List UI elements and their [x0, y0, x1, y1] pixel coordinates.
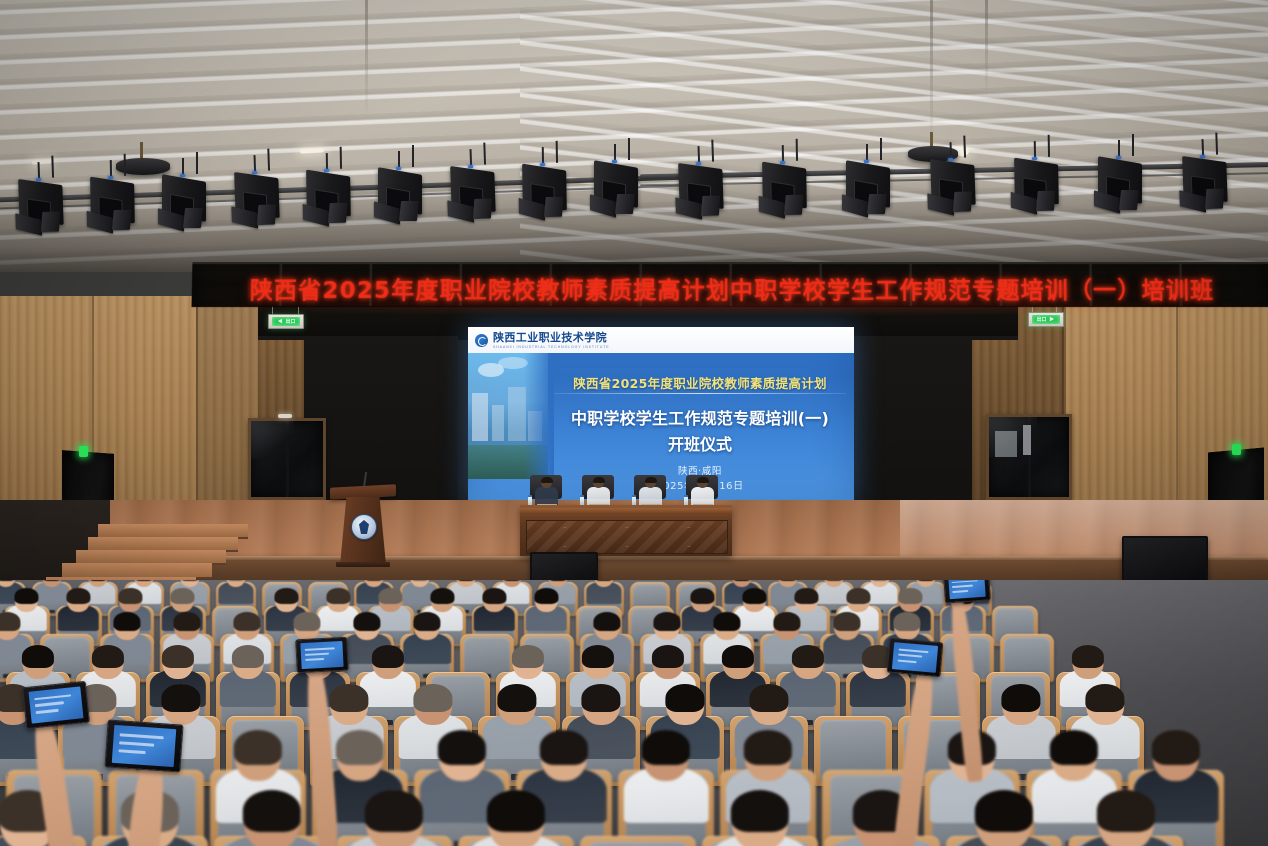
- fixture-rod: [628, 138, 630, 160]
- audience-member-hair: [483, 588, 506, 604]
- stage-light-fixture: [588, 158, 648, 228]
- stage-light-fixture: [516, 160, 577, 231]
- seat-number-tag: [49, 610, 55, 613]
- audience-member-hair: [234, 730, 282, 764]
- fixture-rod: [556, 140, 558, 162]
- fixture-rod: [866, 144, 868, 160]
- audience-member: [410, 612, 443, 656]
- official-hair: [593, 477, 605, 483]
- phone-screen: [892, 642, 938, 673]
- audience-member-hair: [372, 645, 404, 668]
- led-banner: 陕西省2025年度职业院校教师素质提高计划中职学校学生工作规范专题培训（一）培训…: [192, 262, 1268, 304]
- school-emblem-icon: [351, 514, 377, 540]
- exit-sign-left: ◄ 出口: [268, 314, 304, 329]
- audience-member: [224, 580, 249, 598]
- audience-member: [740, 588, 769, 625]
- audience-member-hair: [329, 684, 368, 712]
- audience-member-hair: [642, 730, 690, 764]
- ceiling-seam: [930, 0, 933, 150]
- led-banner-glow: [181, 296, 1268, 316]
- slide-header-bar: 陕西工业职业技术学院 SHAANXI INDUSTRIAL TECHNOLOGY…: [468, 327, 854, 353]
- audience-member-hair: [540, 730, 588, 764]
- audience-member-hair: [379, 588, 402, 604]
- fixture-indicator-icon: [864, 160, 869, 163]
- audience-member: [636, 730, 696, 809]
- slide-line-1: 陕西省2025年度职业院校教师素质提高计划: [554, 373, 846, 392]
- audience-member: [1090, 790, 1162, 846]
- audience-member-hair: [1001, 684, 1040, 712]
- audience-member-hair: [162, 645, 194, 668]
- fixture-barndoor: [544, 196, 564, 216]
- exit-sign-right-label: 出口: [1037, 316, 1047, 323]
- slide-divider: [554, 393, 846, 394]
- phone-screen: [112, 725, 177, 767]
- fixture-barndoor: [784, 194, 804, 214]
- fixture-rod: [542, 147, 544, 163]
- audience-member-hair: [1097, 790, 1155, 832]
- official-hair: [645, 477, 657, 483]
- fixture-rod: [1132, 134, 1134, 156]
- fixture-barndoor: [183, 208, 203, 228]
- audience-member-hair: [792, 645, 824, 668]
- audience-member-hair: [582, 645, 614, 668]
- slide-line-2: 中职学校学生工作规范专题培训(一): [552, 405, 848, 429]
- stage-light-fixture: [444, 162, 506, 234]
- audience-member-hair: [92, 645, 124, 668]
- audience-member-hair: [0, 612, 21, 631]
- fixture-indicator-icon: [468, 165, 473, 168]
- audience-member-hair: [22, 645, 54, 668]
- audience-member-hair: [232, 645, 264, 668]
- audience-member-hair: [1085, 684, 1124, 712]
- audience-member-hair: [67, 588, 90, 604]
- door-light-right: [1232, 444, 1241, 455]
- audience-member-hair: [713, 612, 740, 631]
- auditorium-scene: ◄ 出口 出口 ► 陕西工业职业技术学院 SHAANXI INDUSTRIAL: [0, 0, 1268, 846]
- audience-member-hair: [1050, 730, 1098, 764]
- door-light-left: [79, 446, 88, 457]
- head-table-top: [520, 508, 732, 514]
- fixture-barndoor: [328, 203, 348, 223]
- fixture-indicator-icon: [1200, 155, 1205, 158]
- exit-sign-left-label: 出口: [285, 318, 295, 325]
- fixture-rod: [1048, 135, 1050, 157]
- audience-member: [236, 790, 308, 846]
- official-hair: [541, 477, 553, 483]
- fixture-barndoor: [112, 209, 132, 229]
- audience-member-hair: [413, 612, 440, 631]
- smartphone-recording[interactable]: [887, 638, 944, 678]
- fixture-indicator-icon: [180, 174, 185, 177]
- phone-screen: [28, 686, 83, 724]
- podium[interactable]: [334, 486, 392, 566]
- audience-member-hair: [431, 588, 454, 604]
- audience-member-hair: [413, 684, 452, 712]
- audience-member: [997, 684, 1045, 748]
- audience-member-hair: [243, 790, 301, 832]
- audience-member-hair: [171, 588, 194, 604]
- fixture-rod: [340, 147, 342, 169]
- head-table-ornament: [603, 527, 651, 547]
- fixture-barndoor: [1205, 188, 1224, 209]
- head-table: [520, 505, 732, 556]
- audience-member-hair: [293, 612, 320, 631]
- ceiling-seam: [365, 0, 368, 118]
- audience-member-hair: [743, 588, 766, 604]
- audience-member-hair: [581, 684, 620, 712]
- audience-member-hair: [438, 730, 486, 764]
- stage-light-fixture: [1176, 152, 1238, 224]
- fixture-barndoor: [1119, 190, 1139, 210]
- fixture-rod: [614, 144, 616, 160]
- stage-light-fixture: [756, 158, 817, 229]
- audience-member-hair: [497, 684, 536, 712]
- stage-light-fixture: [1008, 155, 1069, 226]
- audience-member: [968, 790, 1040, 846]
- stage-light-fixture: [228, 168, 290, 240]
- slide-line-3: 开班仪式: [552, 431, 848, 455]
- audience-member-hair: [975, 790, 1033, 832]
- audience-member-hair: [653, 612, 680, 631]
- stage-light-fixture: [300, 167, 361, 238]
- ceiling-seam: [985, 0, 988, 96]
- audience-member-hair: [749, 684, 788, 712]
- audience-member: [592, 580, 617, 598]
- booth-interior-wall: [995, 431, 1017, 457]
- audience-member: [358, 790, 430, 846]
- podium-base: [336, 562, 390, 567]
- audience-member-hair: [731, 790, 789, 832]
- fixture-indicator-icon: [780, 161, 785, 164]
- phone-screen: [300, 641, 343, 669]
- fixture-rod: [782, 145, 784, 161]
- audience-member-hair: [833, 612, 860, 631]
- stage-light-fixture: [924, 155, 986, 227]
- fixture-barndoor: [257, 205, 276, 226]
- fixture-rod: [398, 151, 400, 167]
- smartphone-recording[interactable]: [22, 681, 90, 729]
- exit-sign-left-glow: ◄ 出口: [272, 317, 300, 326]
- booth-glass-sheen: [248, 418, 294, 459]
- smartphone-recording[interactable]: [295, 637, 349, 674]
- audience-member-hair: [15, 588, 38, 604]
- fixture-barndoor: [41, 211, 60, 232]
- seat-cushion: [589, 842, 686, 846]
- audience-member: [368, 645, 408, 698]
- audience-member-hair: [665, 684, 704, 712]
- slide-photo-fade: [524, 353, 554, 479]
- fixture-rod: [196, 152, 198, 174]
- audience-member-hair: [173, 612, 200, 631]
- audience-member-hair: [773, 612, 800, 631]
- fixture-barndoor: [867, 194, 887, 214]
- audience-member-hair: [275, 588, 298, 604]
- fixture-rod: [1034, 141, 1036, 157]
- booth-window-left: [248, 418, 326, 500]
- audience-member: [228, 645, 268, 698]
- audience-member-hair: [233, 612, 260, 631]
- head-table-skirt: [526, 520, 728, 554]
- audience-seat[interactable]: [580, 836, 696, 846]
- fixture-rod: [796, 139, 798, 161]
- exit-sign-right-glow: 出口 ►: [1032, 315, 1060, 324]
- booth-lamp-left: [278, 414, 292, 418]
- audience-member-hair: [722, 645, 754, 668]
- fixture-rod: [1118, 140, 1120, 156]
- institution-logo-pinyin: SHAANXI INDUSTRIAL TECHNOLOGY INSTITUTE: [493, 345, 610, 349]
- stage-light-fixture: [840, 158, 900, 228]
- audience-member: [480, 588, 509, 625]
- audience-member-hair: [795, 588, 818, 604]
- stage-light-fixture: [672, 159, 734, 231]
- audience-member-hair: [1152, 730, 1200, 764]
- audience-member-hair: [327, 588, 350, 604]
- audience-member-hair: [1072, 645, 1104, 668]
- stage-floor-highlight: [900, 500, 1268, 562]
- audience-seating-area: [0, 580, 1268, 846]
- stage-light-fixture: [12, 175, 74, 247]
- official-hair: [697, 477, 709, 483]
- fixture-rod: [326, 153, 328, 169]
- booth-window-right: [986, 414, 1072, 500]
- stage-light-fixture: [156, 172, 216, 242]
- fixture-rod: [880, 138, 882, 160]
- fixture-rod: [110, 160, 112, 176]
- audience-member-hair: [593, 612, 620, 631]
- stage-light-fixture: [372, 165, 432, 235]
- fixture-barndoor: [1036, 191, 1056, 211]
- fixture-rod: [412, 145, 414, 167]
- audience-member-hair: [353, 612, 380, 631]
- fixture-barndoor: [473, 198, 492, 219]
- head-table-ornament: [665, 527, 713, 547]
- audience-member: [64, 588, 93, 625]
- audience-member-hair: [893, 612, 920, 631]
- fixture-barndoor: [953, 192, 972, 213]
- audience-member-hair: [652, 645, 684, 668]
- fixture-rod: [182, 158, 184, 174]
- fixture-barndoor: [399, 201, 419, 221]
- audience-member-hair: [113, 612, 140, 631]
- audience-member-hair: [535, 588, 558, 604]
- audience-member-hair: [161, 684, 200, 712]
- institution-logo-icon: [475, 334, 488, 347]
- audience-member: [532, 588, 561, 625]
- stage-light-fixture: [1092, 154, 1152, 224]
- audience-member-hair: [899, 588, 922, 604]
- audience-member-hair: [744, 730, 792, 764]
- audience-member: [724, 790, 796, 846]
- audience-member: [480, 790, 552, 846]
- institution-logo-text: 陕西工业职业技术学院: [493, 332, 610, 343]
- phone-screen: [948, 580, 986, 600]
- smartphone-recording[interactable]: [104, 719, 183, 772]
- stage-light-fixture: [84, 173, 145, 244]
- fixture-barndoor: [701, 195, 720, 216]
- audience-member: [822, 580, 847, 598]
- audience-member-hair: [691, 588, 714, 604]
- fixture-rod: [124, 154, 126, 176]
- booth-interior-light: [1023, 425, 1031, 455]
- audience-member: [788, 645, 828, 698]
- audience-member-hair: [847, 588, 870, 604]
- stage-monitor-right: [1122, 536, 1208, 586]
- audience-member-hair: [487, 790, 545, 832]
- audience-member-hair: [512, 645, 544, 668]
- audience-member: [324, 588, 353, 625]
- fixture-indicator-icon: [108, 176, 113, 179]
- smartphone-recording[interactable]: [943, 580, 991, 604]
- audience-member: [454, 580, 479, 598]
- audience-member-hair: [119, 588, 142, 604]
- fixture-barndoor: [615, 194, 635, 214]
- audience-member-hair: [336, 730, 384, 764]
- head-table-ornament: [541, 527, 589, 547]
- fixture-indicator-icon: [540, 163, 545, 166]
- audience-member-hair: [365, 790, 423, 832]
- audience-member: [40, 580, 65, 598]
